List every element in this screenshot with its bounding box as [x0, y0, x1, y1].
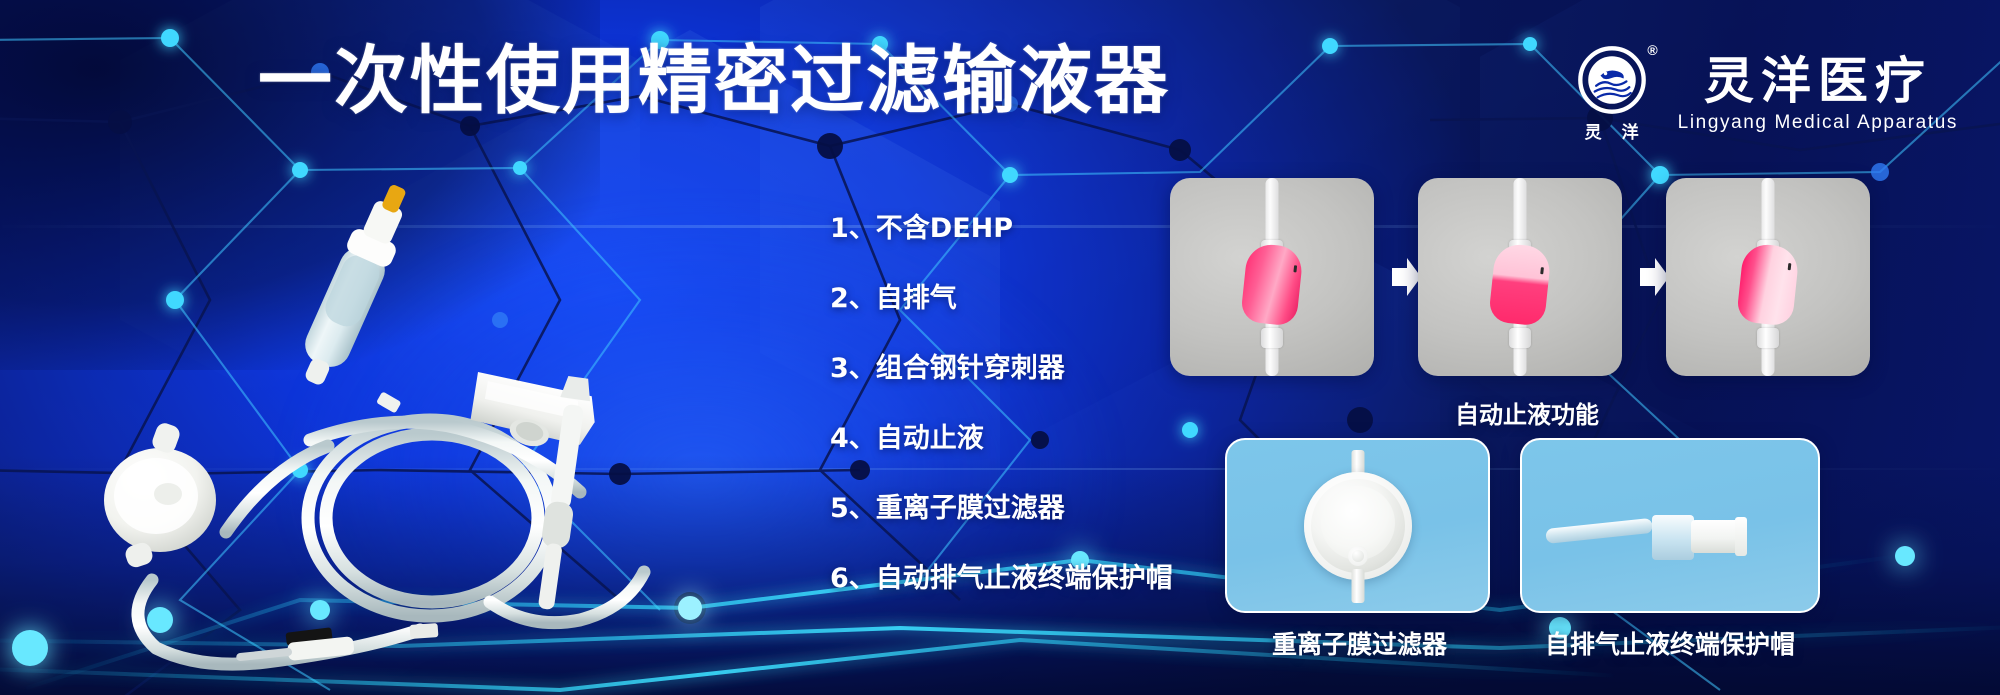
- precision-filter-infusion-set-photo: [60, 200, 720, 650]
- lingyang-circular-emblem-icon: ®: [1576, 44, 1648, 116]
- company-logo[interactable]: ® 灵 洋 灵洋医疗 Lingyang Medical Apparatus: [1564, 44, 1958, 143]
- logo-emblem-chars: 灵 洋: [1585, 118, 1639, 143]
- auto-stop-step-3-card[interactable]: [1666, 178, 1870, 376]
- luer-lock-hub: [1652, 515, 1693, 559]
- protective-cap: [1691, 520, 1741, 552]
- self-venting-cap-caption: 自排气止液终端保护帽: [1545, 625, 1795, 661]
- connector-tubing: [1545, 518, 1653, 544]
- feature-item-6: 6、自动排气止液终端保护帽: [830, 565, 1173, 592]
- heavy-ion-membrane-filter-caption: 重离子膜过滤器: [1272, 625, 1447, 661]
- feature-item-1: 1、不含DEHP: [830, 215, 1173, 242]
- filter-outlet-stem: [1351, 569, 1364, 603]
- auto-stop-step-2-card[interactable]: [1418, 178, 1622, 376]
- logo-text-block: 灵洋医疗 Lingyang Medical Apparatus: [1678, 54, 1958, 134]
- feature-item-4: 4、自动止液: [830, 425, 1173, 452]
- speck-icon: [1293, 266, 1297, 273]
- feature-item-3: 3、组合钢针穿刺器: [830, 355, 1173, 382]
- round-white-membrane-filter: [1304, 472, 1412, 580]
- filter-chamber-full: [1240, 243, 1304, 328]
- company-name-en: Lingyang Medical Apparatus: [1678, 112, 1958, 134]
- registered-trademark-icon: ®: [1647, 42, 1657, 58]
- filter-chamber-empty: [1736, 243, 1800, 328]
- self-venting-terminal-protective-cap-card[interactable]: [1520, 438, 1820, 613]
- feature-list: 1、不含DEHP 2、自排气 3、组合钢针穿刺器 4、自动止液 5、重离子膜过滤…: [830, 215, 1173, 592]
- heavy-ion-membrane-filter-card[interactable]: [1225, 438, 1490, 613]
- auto-stop-caption: 自动止液功能: [1455, 395, 1599, 430]
- auto-stop-step-1-card[interactable]: [1170, 178, 1374, 376]
- feature-item-5: 5、重离子膜过滤器: [830, 495, 1173, 522]
- company-name-cn: 灵洋医疗: [1704, 54, 1932, 108]
- tube-collar-icon: [1509, 328, 1531, 348]
- tube-collar-icon: [1757, 328, 1779, 348]
- filter-outlet-nipple: [1348, 546, 1368, 566]
- filter-chamber-half: [1488, 243, 1552, 328]
- cap-end-ring: [1735, 517, 1747, 556]
- product-banner: 一次性使用精密过滤输液器 ® 灵 洋 灵洋医疗: [0, 0, 2000, 695]
- speck-icon: [1540, 267, 1544, 274]
- page-title: 一次性使用精密过滤输液器: [258, 44, 1170, 118]
- tube-collar-icon: [1261, 328, 1283, 348]
- logo-char-yang: 洋: [1622, 118, 1639, 143]
- logo-char-ling: 灵: [1585, 118, 1602, 143]
- speck-icon: [1788, 263, 1792, 270]
- logo-mark: ® 灵 洋: [1564, 44, 1660, 143]
- feature-item-2: 2、自排气: [830, 285, 1173, 312]
